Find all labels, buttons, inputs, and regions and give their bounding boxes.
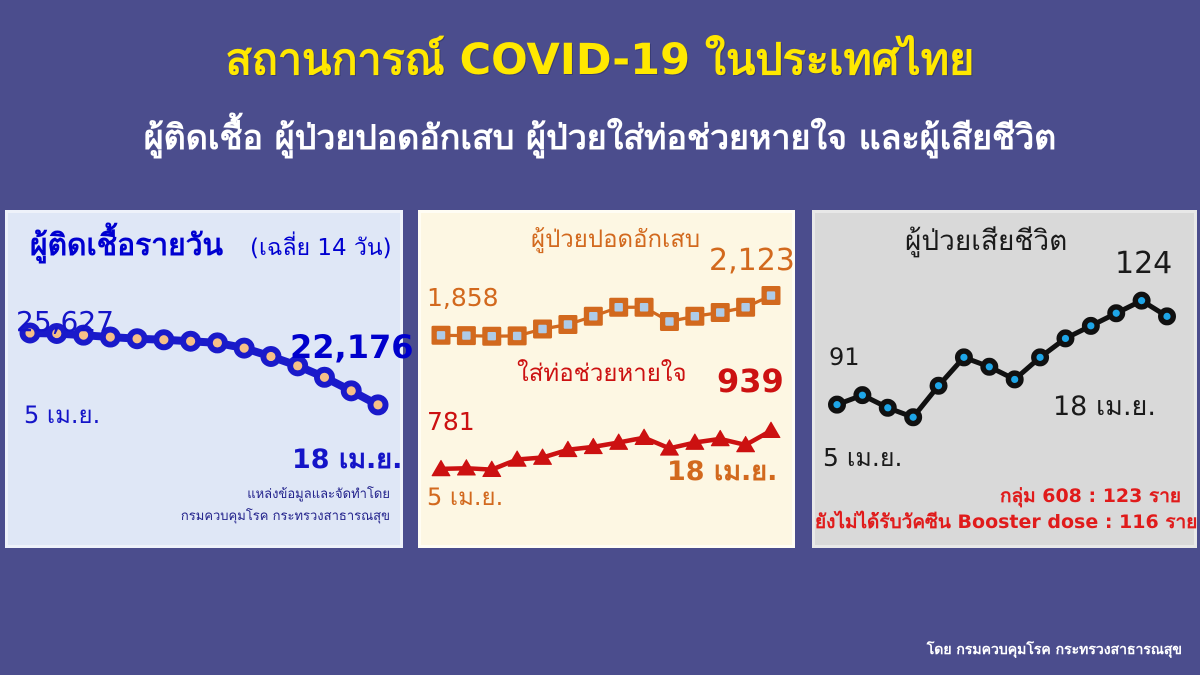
panel-pneumonia-start-value: 1,858 bbox=[427, 285, 499, 310]
panel-pneumonia-start-date: 5 เม.ย. bbox=[427, 485, 503, 509]
panel-pneumonia-title: ผู้ป่วยปอดอักเสบ bbox=[531, 227, 700, 251]
panel-deaths-start-date: 5 เม.ย. bbox=[823, 445, 902, 470]
panel-deaths-note-booster: ยังไม่ได้รับวัคซีน Booster dose : 116 รา… bbox=[815, 513, 1187, 532]
panel-ventilator-end-value: 939 bbox=[717, 365, 784, 397]
panel-cases-source-line2: กรมควบคุมโรค กระทรวงสาธารณสุข bbox=[8, 510, 390, 523]
panel-cases-start-value: 25,627 bbox=[16, 308, 114, 336]
panel-ventilator-start-value: 781 bbox=[427, 409, 475, 434]
panel-deaths-note-608: กลุ่ม 608 : 123 ราย bbox=[815, 487, 1181, 506]
panel-cases-source-line1: แหล่งข้อมูลและจัดทำโดย bbox=[8, 488, 390, 501]
panel-ventilator-title: ใส่ท่อช่วยหายใจ bbox=[517, 361, 687, 385]
panel-deaths-title: ผู้ป่วยเสียชีวิต bbox=[905, 227, 1067, 255]
panel-daily-cases: ผู้ติดเชื้อรายวัน (เฉลี่ย 14 วัน) 25,627… bbox=[5, 210, 403, 548]
panel-pneumonia-end-date: 18 เม.ย. bbox=[667, 458, 777, 485]
panel-cases-start-date: 5 เม.ย. bbox=[24, 403, 100, 427]
footer-credit: โดย กรมควบคุมโรค กระทรวงสาธารณสุข bbox=[927, 639, 1182, 661]
panel-cases-title-suffix: (เฉลี่ย 14 วัน) bbox=[250, 237, 392, 260]
page-title: สถานการณ์ COVID-19 ในประเทศไทย bbox=[0, 38, 1200, 83]
panel-deaths-end-value: 124 bbox=[1115, 249, 1172, 279]
panel-deaths-start-value: 91 bbox=[829, 345, 860, 369]
panel-cases-title: ผู้ติดเชื้อรายวัน bbox=[30, 231, 223, 261]
panel-cases-end-date: 18 เม.ย. bbox=[292, 446, 402, 473]
page-subtitle: ผู้ติดเชื้อ ผู้ป่วยปอดอักเสบ ผู้ป่วยใส่ท… bbox=[0, 120, 1200, 157]
panel-deaths: ผู้ป่วยเสียชีวิต 124 91 5 เม.ย. 18 เม.ย.… bbox=[812, 210, 1197, 548]
panel-cases-end-value: 22,176 bbox=[290, 331, 413, 363]
panel-pneumonia-end-value: 2,123 bbox=[709, 246, 795, 276]
panel-deaths-end-date: 18 เม.ย. bbox=[1053, 393, 1156, 420]
header-banner: สถานการณ์ COVID-19 ในประเทศไทย ผู้ติดเชื… bbox=[0, 0, 1200, 198]
panel-pneumonia: ผู้ป่วยปอดอักเสบ 2,123 1,858 ใส่ท่อช่วยห… bbox=[418, 210, 795, 548]
